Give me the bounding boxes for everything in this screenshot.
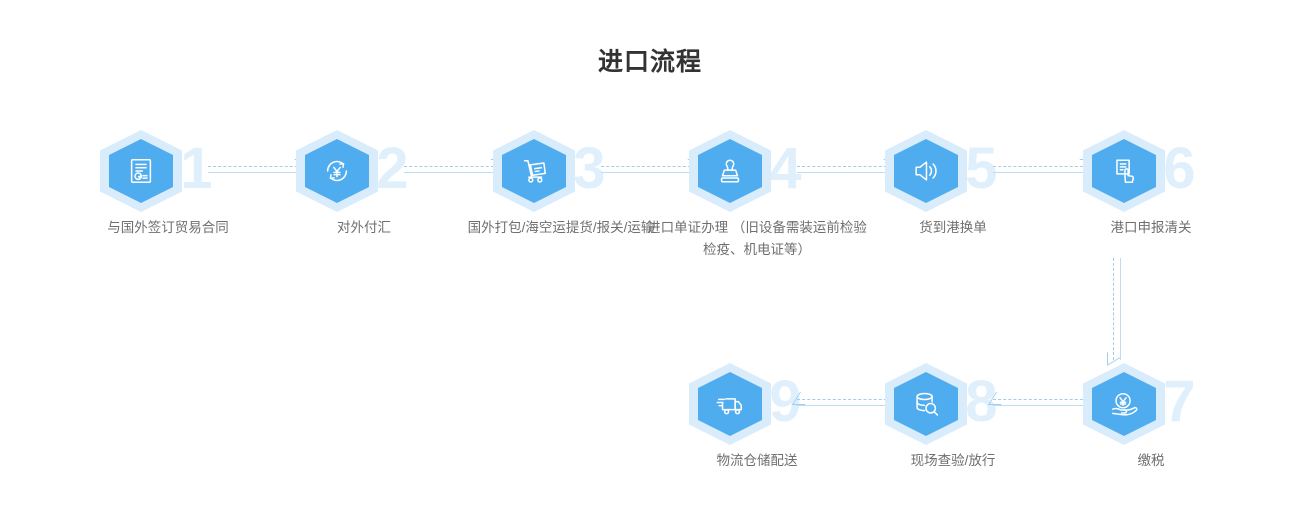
flow-node-04[interactable]: 04 进口单证办理 （旧设备需装运前检验检疫、机电证等） [684, 133, 874, 283]
connector-solid-line [797, 172, 892, 173]
currency-exchange-yuan-icon [305, 139, 369, 203]
flow-node-08[interactable]: 08 现场查验/放行 [880, 366, 1070, 516]
page-title: 进口流程 [0, 42, 1300, 78]
flow-node-05[interactable]: 05 货到港换单 [880, 133, 1070, 283]
certificate-document-icon [109, 139, 173, 203]
arrow-05-to-06 [993, 163, 1088, 179]
node-label-07: 缴税 [1050, 450, 1252, 472]
hand-document-declaration-icon [1092, 139, 1156, 203]
flow-node-01[interactable]: 01 与国外签订贸易合同 [95, 133, 285, 283]
connector-dashed-line [993, 399, 1088, 400]
connector-dashed-line [797, 399, 892, 400]
rubber-stamp-icon [698, 139, 762, 203]
flow-node-02[interactable]: 02 对外付汇 [291, 133, 481, 283]
connector-solid-line [601, 172, 696, 173]
connector-solid-line [1120, 258, 1121, 360]
arrow-07-to-08 [993, 396, 1088, 412]
arrow-02-to-03 [404, 163, 499, 179]
connector-solid-line [993, 405, 1088, 406]
arrow-08-to-09 [797, 396, 892, 412]
flow-node-07[interactable]: 07 缴税 [1078, 366, 1268, 516]
delivery-truck-icon [698, 372, 762, 436]
node-label-01: 与国外签订贸易合同 [67, 217, 269, 239]
arrow-01-to-02 [208, 163, 303, 179]
hand-truck-package-icon [502, 139, 566, 203]
arrow-06-to-07 [1110, 258, 1126, 360]
connector-solid-line [797, 405, 892, 406]
hand-coin-yuan-icon [1092, 372, 1156, 436]
connector-solid-line [208, 172, 303, 173]
arrowhead-down-icon [1107, 345, 1120, 366]
node-label-04: 进口单证办理 （旧设备需装运前检验检疫、机电证等） [642, 217, 872, 261]
connector-solid-line [404, 172, 499, 173]
arrow-03-to-04 [601, 163, 696, 179]
connector-dashed-line [1113, 258, 1114, 360]
node-label-02: 对外付汇 [263, 217, 465, 239]
arrow-04-to-05 [797, 163, 892, 179]
node-label-09: 物流仓储配送 [656, 450, 858, 472]
node-label-06: 港口申报清关 [1050, 217, 1252, 239]
node-label-08: 现场查验/放行 [852, 450, 1054, 472]
connector-solid-line [993, 172, 1088, 173]
database-search-icon [894, 372, 958, 436]
speaker-announcement-icon [894, 139, 958, 203]
flow-node-09[interactable]: 09 物流仓储配送 [684, 366, 874, 516]
flow-node-06[interactable]: 06 港口申报清关 [1078, 133, 1268, 283]
node-label-05: 货到港换单 [852, 217, 1054, 239]
